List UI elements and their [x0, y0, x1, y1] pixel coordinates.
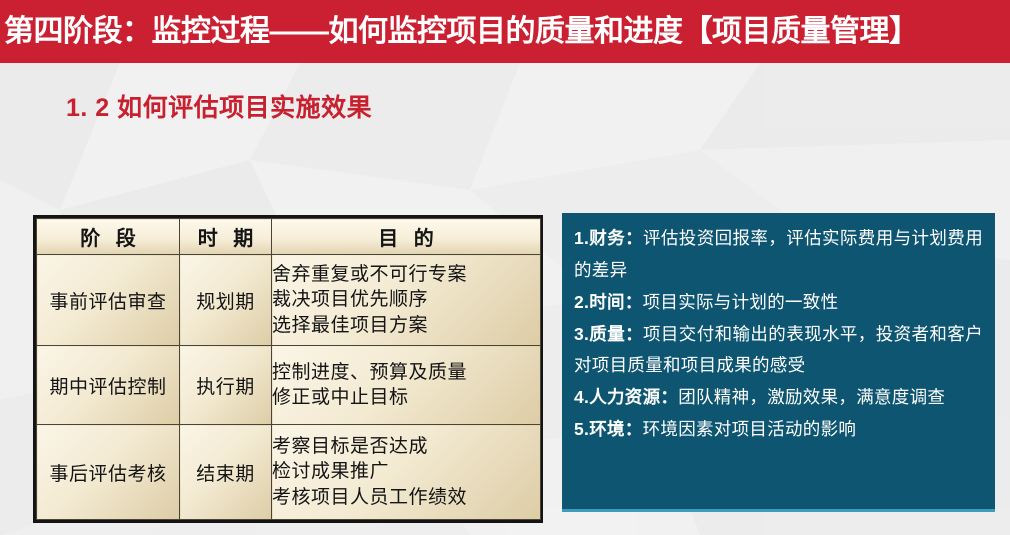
criteria-text: 环境因素对项目活动的影响: [643, 419, 857, 439]
list-item: 1.财务：评估投资回报率，评估实际费用与计划费用的差异: [574, 223, 983, 287]
purpose-line: 修正或中止目标: [272, 385, 540, 410]
purpose-line: 选择最佳项目方案: [272, 313, 540, 338]
cell-purpose: 舍弃重复或不可行专案 裁决项目优先顺序 选择最佳项目方案: [272, 255, 541, 346]
evaluation-criteria-panel: 1.财务：评估投资回报率，评估实际费用与计划费用的差异 2.时间：项目实际与计划…: [562, 213, 995, 512]
cell-stage: 事后评估考核: [37, 425, 180, 520]
table-row: 事前评估审查 规划期 舍弃重复或不可行专案 裁决项目优先顺序 选择最佳项目方案: [37, 255, 541, 346]
list-item: 3.质量：项目交付和输出的表现水平，投资者和客户对项目质量和项目成果的感受: [574, 319, 983, 383]
table-row: 期中评估控制 执行期 控制进度、预算及质量 修正或中止目标: [37, 346, 541, 425]
cell-period: 执行期: [180, 346, 272, 425]
cell-stage: 事前评估审查: [37, 255, 180, 346]
banner-title-text: 第四阶段：监控过程——如何监控项目的质量和进度【项目质量管理】: [0, 17, 919, 47]
criteria-text: 项目实际与计划的一致性: [643, 292, 839, 312]
purpose-line: 考察目标是否达成: [272, 434, 540, 459]
cell-period: 结束期: [180, 425, 272, 520]
column-header-period: 时 期: [180, 219, 272, 255]
section-subtitle: 1. 2 如何评估项目实施效果: [66, 88, 372, 124]
title-banner: 第四阶段：监控过程——如何监控项目的质量和进度【项目质量管理】: [0, 0, 1010, 63]
criteria-label: 5.环境：: [574, 419, 643, 439]
evaluation-table: 阶 段 时 期 目 的 事前评估审查 规划期 舍弃重复或不可行专案 裁决项目优先…: [33, 215, 543, 523]
cell-stage: 期中评估控制: [37, 346, 180, 425]
criteria-label: 1.财务：: [574, 228, 643, 248]
column-header-stage: 阶 段: [37, 219, 180, 255]
list-item: 4.人力资源：团队精神，激励效果，满意度调查: [574, 382, 983, 414]
purpose-line: 检讨成果推广: [272, 459, 540, 484]
cell-purpose: 控制进度、预算及质量 修正或中止目标: [272, 346, 541, 425]
column-header-purpose: 目 的: [272, 219, 541, 255]
purpose-line: 舍弃重复或不可行专案: [272, 262, 540, 287]
criteria-text: 团队精神，激励效果，满意度调查: [678, 387, 945, 407]
cell-period: 规划期: [180, 255, 272, 346]
purpose-line: 考核项目人员工作绩效: [272, 485, 540, 510]
criteria-list: 1.财务：评估投资回报率，评估实际费用与计划费用的差异 2.时间：项目实际与计划…: [574, 223, 983, 446]
purpose-line: 控制进度、预算及质量: [272, 360, 540, 385]
table-header-row: 阶 段 时 期 目 的: [37, 219, 541, 255]
cell-purpose: 考察目标是否达成 检讨成果推广 考核项目人员工作绩效: [272, 425, 541, 520]
list-item: 2.时间：项目实际与计划的一致性: [574, 287, 983, 319]
criteria-label: 2.时间：: [574, 292, 643, 312]
table-row: 事后评估考核 结束期 考察目标是否达成 检讨成果推广 考核项目人员工作绩效: [37, 425, 541, 520]
criteria-label: 4.人力资源：: [574, 387, 678, 407]
slide-canvas: 第四阶段：监控过程——如何监控项目的质量和进度【项目质量管理】 1. 2 如何评…: [0, 0, 1010, 535]
purpose-line: 裁决项目优先顺序: [272, 287, 540, 312]
list-item: 5.环境：环境因素对项目活动的影响: [574, 414, 983, 446]
criteria-label: 3.质量：: [574, 324, 643, 344]
